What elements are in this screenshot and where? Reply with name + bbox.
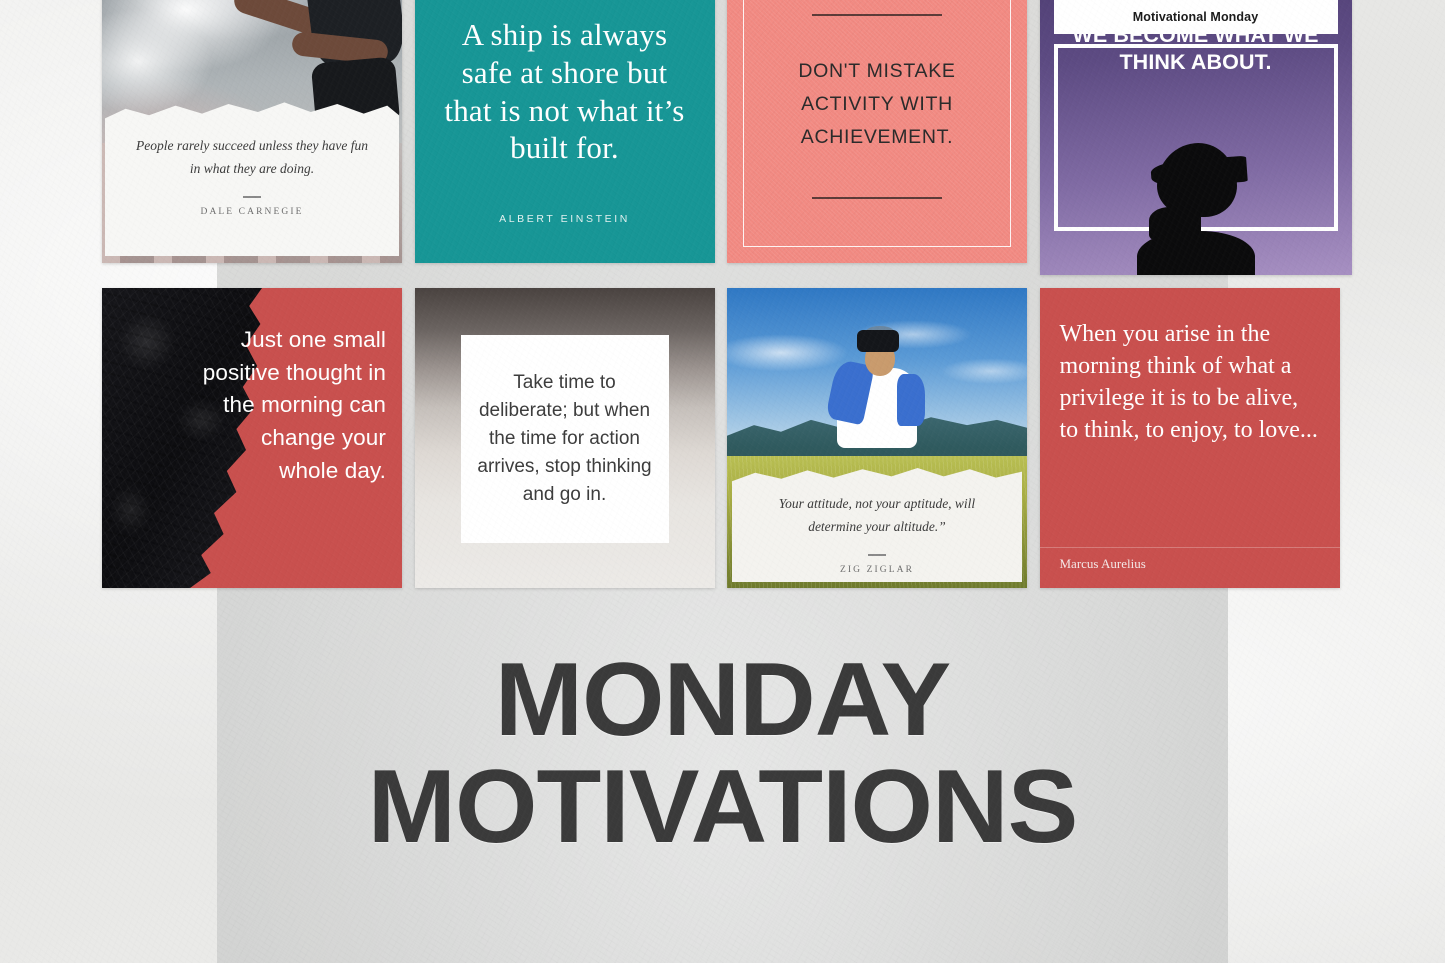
quote-author: Marcus Aurelius — [1060, 556, 1146, 572]
divider-dash-icon — [868, 554, 886, 556]
quote-text: People rarely succeed unless they have f… — [131, 134, 373, 180]
white-text-box: Take time to deliberate; but when the ti… — [461, 335, 669, 543]
quote-text: Take time to deliberate; but when the ti… — [461, 369, 669, 510]
quote-text: Your attitude, not your aptitude, will d… — [752, 492, 1002, 538]
quote-card-zig-ziglar[interactable]: Your attitude, not your aptitude, will d… — [727, 288, 1027, 588]
poster-background: People rarely succeed unless they have f… — [0, 0, 1445, 963]
quote-card-albert-einstein[interactable]: A ship is always safe at shore but that … — [415, 0, 715, 263]
bottom-rule-icon — [812, 197, 942, 199]
quote-card-dale-carnegie[interactable]: People rarely succeed unless they have f… — [102, 0, 402, 263]
quote-card-dont-mistake-activity[interactable]: DON'T MISTAKE ACTIVITY WITH ACHIEVEMENT. — [727, 0, 1027, 263]
quote-card-marcus-aurelius[interactable]: When you arise in the morning think of w… — [1040, 288, 1340, 588]
quote-card-take-time-to-deliberate[interactable]: Take time to deliberate; but when the ti… — [415, 288, 715, 588]
quote-card-grid: People rarely succeed unless they have f… — [102, 0, 1342, 588]
title-line-2: MOTIVATIONS — [0, 757, 1445, 858]
quote-text: DON'T MISTAKE ACTIVITY WITH ACHIEVEMENT. — [727, 55, 1027, 153]
torn-paper-note: People rarely succeed unless they have f… — [105, 96, 399, 256]
quote-text: When you arise in the morning think of w… — [1060, 318, 1320, 447]
hiker-figure-icon — [831, 322, 923, 448]
poster-title: MONDAY MOTIVATIONS — [0, 650, 1445, 858]
quote-author: ALBERT EINSTEIN — [415, 213, 715, 225]
top-rule-icon — [812, 14, 942, 16]
card-row-2: Just one small positive thought in the m… — [102, 288, 1342, 588]
quote-text: A ship is always safe at shore but that … — [415, 0, 715, 167]
quote-text: Just one small positive thought in the m… — [196, 324, 386, 487]
torn-paper-note: Your attitude, not your aptitude, will d… — [732, 462, 1022, 582]
quote-card-motivational-monday[interactable]: Motivational Monday WE BECOME WHAT WE TH… — [1040, 0, 1352, 275]
footer-divider — [1040, 547, 1340, 548]
quote-author: ZIG ZIGLAR — [752, 565, 1002, 575]
quote-text: WE BECOME WHAT WE THINK ABOUT. — [1040, 22, 1352, 76]
divider-dash-icon — [243, 196, 261, 198]
quote-author: DALE CARNEGIE — [131, 207, 373, 217]
title-line-1: MONDAY — [0, 650, 1445, 751]
head-silhouette-icon — [1137, 143, 1255, 275]
quote-card-just-one-small-positive[interactable]: Just one small positive thought in the m… — [102, 288, 402, 588]
card-row-1: People rarely succeed unless they have f… — [102, 0, 1342, 275]
